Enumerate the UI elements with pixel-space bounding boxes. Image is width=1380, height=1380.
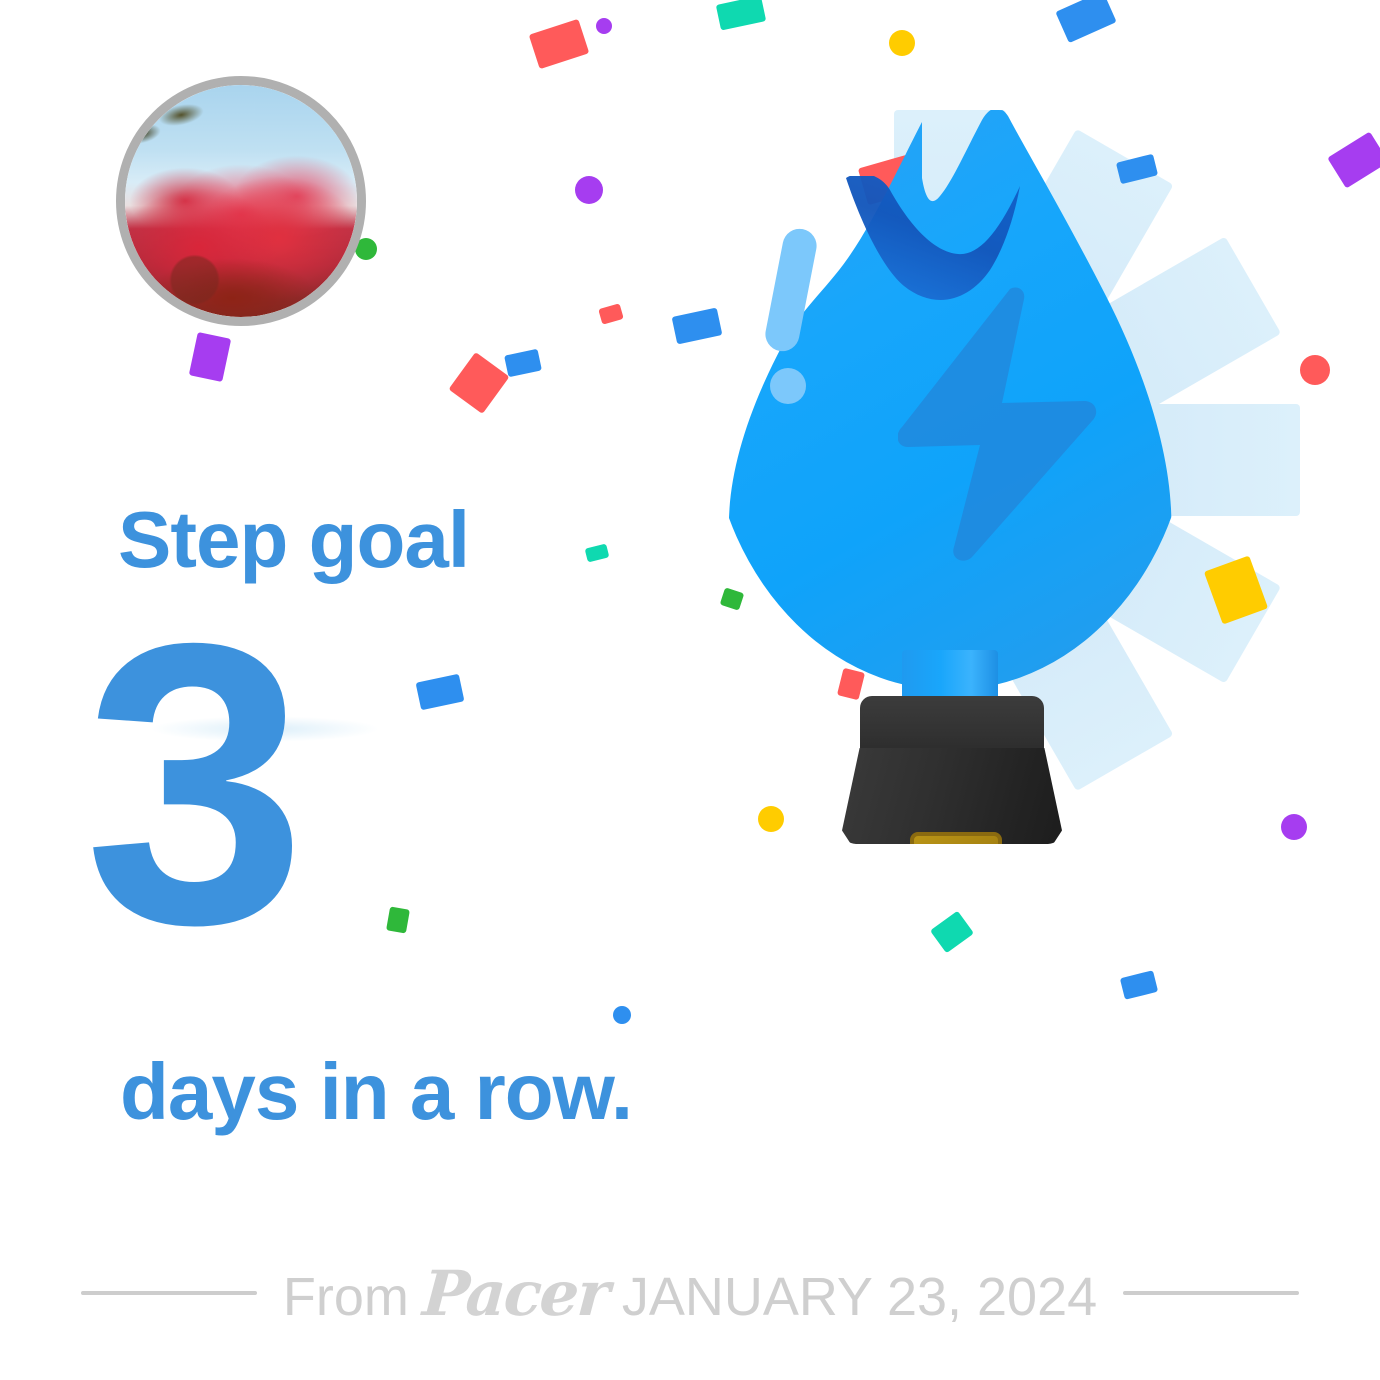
streak-subtitle: days in a row. <box>120 1046 632 1138</box>
trophy-graphic <box>690 110 1210 850</box>
pacer-logo: Pacer <box>420 1257 610 1330</box>
confetti-yellow-dot-1 <box>889 30 915 56</box>
confetti-blue-rect-top <box>1055 0 1116 43</box>
achievement-card: Step goal 3 days in a row. From Pacer JA… <box>0 0 1380 1380</box>
trophy-base-top <box>860 696 1044 754</box>
confetti-teal-rect-top <box>716 0 766 30</box>
confetti-red-rect-small <box>598 303 624 324</box>
footer-divider-left <box>81 1291 257 1295</box>
avatar-branch-overlay <box>125 85 246 190</box>
avatar-photo <box>125 85 357 317</box>
streak-count: 3 <box>84 584 300 984</box>
flame-highlight-dot <box>770 368 806 404</box>
confetti-blue-rect-left <box>504 349 542 378</box>
confetti-teal-quad-2 <box>930 911 974 954</box>
confetti-blue-rect-5 <box>1120 970 1158 1000</box>
avatar[interactable] <box>116 76 366 326</box>
trophy-base <box>842 696 1062 844</box>
footer-attribution: From Pacer JANUARY 23, 2024 <box>283 1257 1097 1330</box>
confetti-blue-dot-bottom <box>613 1006 631 1024</box>
confetti-red-rect-1 <box>529 19 590 69</box>
footer-divider-right <box>1123 1291 1299 1295</box>
lightning-bolt-icon <box>898 285 1098 565</box>
confetti-teal-rect-mid <box>585 544 610 563</box>
footer: From Pacer JANUARY 23, 2024 <box>0 1248 1380 1338</box>
footer-from-label: From <box>283 1266 409 1328</box>
flame-icon <box>708 110 1192 690</box>
confetti-purple-quad-tr <box>1327 131 1380 188</box>
confetti-red-dot-right <box>1300 355 1330 385</box>
trophy-base-body <box>842 748 1062 844</box>
confetti-red-rect-3 <box>448 352 509 414</box>
footer-date: JANUARY 23, 2024 <box>622 1266 1097 1328</box>
confetti-purple-dot-2 <box>575 176 603 204</box>
confetti-purple-rect-3 <box>189 332 231 382</box>
confetti-purple-dot-1 <box>596 18 612 34</box>
confetti-green-rect-left <box>386 906 410 933</box>
confetti-purple-dot-3 <box>1281 814 1307 840</box>
confetti-blue-rect-4 <box>416 674 465 711</box>
